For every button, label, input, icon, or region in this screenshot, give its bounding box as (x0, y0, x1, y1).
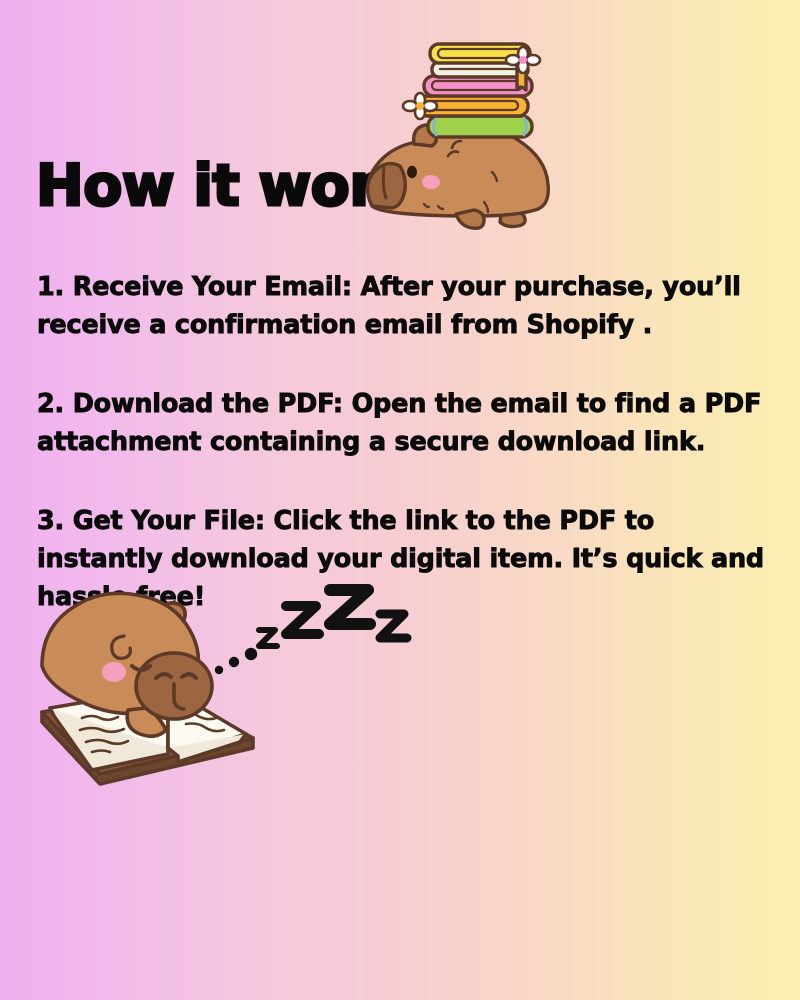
capybara-with-books-illustration (352, 56, 548, 238)
capybara-cheek (102, 662, 126, 682)
green-book (428, 116, 532, 137)
capybara-eye (407, 166, 417, 178)
sleeping-capybara-illustration (28, 588, 428, 794)
steps-list: 1. Receive Your Email: After your purcha… (37, 268, 767, 616)
step-item-1: 1. Receive Your Email: After your purcha… (37, 268, 767, 344)
poster-canvas: How it works (0, 0, 800, 1000)
step-item-2: 2. Download the PDF: Open the email to f… (37, 385, 767, 461)
capybara-cheek (422, 175, 440, 189)
zzz-sleep-indicator (215, 590, 407, 674)
